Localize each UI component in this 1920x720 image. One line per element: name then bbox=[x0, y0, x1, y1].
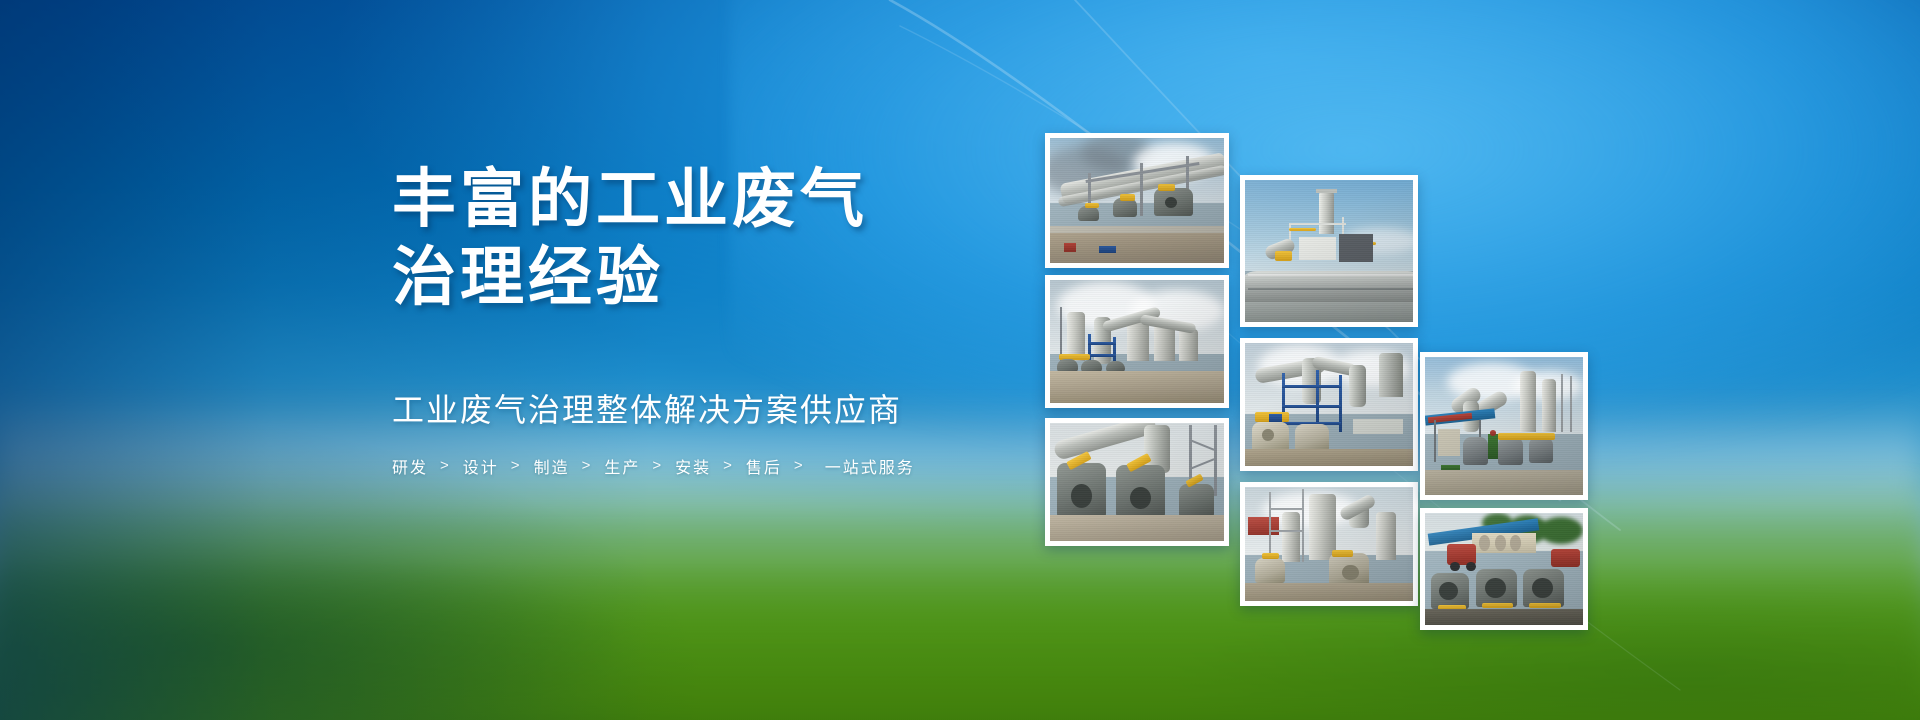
photo-scrubber-towers-image bbox=[1050, 280, 1224, 403]
banner-copy-block: 丰富的工业废气 治理经验 工业废气治理整体解决方案供应商 研发 > 设计 > 制… bbox=[392, 160, 1012, 478]
photo-ducting-walkway[interactable] bbox=[1240, 338, 1418, 471]
photo-scrubber-towers[interactable] bbox=[1045, 275, 1229, 408]
breadcrumb-separator-icon: > bbox=[652, 457, 663, 474]
breadcrumb-step-6: 售后 bbox=[746, 454, 782, 478]
photo-rooftop-duct-line-image bbox=[1050, 138, 1224, 263]
banner-headline: 丰富的工业废气 治理经验 bbox=[392, 160, 1012, 316]
photo-fan-shipment-image bbox=[1425, 513, 1583, 625]
photo-scrubber-plant-image bbox=[1245, 487, 1413, 601]
breadcrumb-step-3: 制造 bbox=[534, 454, 570, 478]
breadcrumb-step-1: 研发 bbox=[392, 454, 428, 478]
breadcrumb-separator-icon: > bbox=[582, 457, 593, 474]
photo-fan-shipment[interactable] bbox=[1420, 508, 1588, 630]
headline-line-1: 丰富的工业废气 bbox=[392, 163, 868, 235]
photo-site-installation-image bbox=[1425, 357, 1583, 495]
photo-centrifugal-fans-image bbox=[1050, 423, 1224, 541]
photo-rto-stack-pipeline[interactable] bbox=[1240, 175, 1418, 327]
photo-centrifugal-fans[interactable] bbox=[1045, 418, 1229, 546]
photo-scrubber-plant[interactable] bbox=[1240, 482, 1418, 606]
process-breadcrumb: 研发 > 设计 > 制造 > 生产 > 安装 > 售后 > 一站式服务 bbox=[392, 454, 1012, 478]
breadcrumb-step-4: 生产 bbox=[604, 454, 640, 478]
photo-rto-stack-pipeline-image bbox=[1245, 180, 1413, 322]
breadcrumb-separator-icon: > bbox=[794, 457, 805, 474]
breadcrumb-step-final: 一站式服务 bbox=[825, 454, 915, 478]
photo-ducting-walkway-image bbox=[1245, 343, 1413, 466]
breadcrumb-separator-icon: > bbox=[511, 457, 522, 474]
breadcrumb-separator-icon: > bbox=[440, 457, 451, 474]
breadcrumb-step-2: 设计 bbox=[463, 454, 499, 478]
headline-line-2: 治理经验 bbox=[392, 238, 1012, 316]
breadcrumb-separator-icon: > bbox=[723, 457, 734, 474]
breadcrumb-step-5: 安装 bbox=[675, 454, 711, 478]
hero-banner: 丰富的工业废气 治理经验 工业废气治理整体解决方案供应商 研发 > 设计 > 制… bbox=[0, 0, 1920, 720]
photo-rooftop-duct-line[interactable] bbox=[1045, 133, 1229, 268]
photo-site-installation[interactable] bbox=[1420, 352, 1588, 500]
banner-subtitle: 工业废气治理整体解决方案供应商 bbox=[392, 390, 1012, 432]
